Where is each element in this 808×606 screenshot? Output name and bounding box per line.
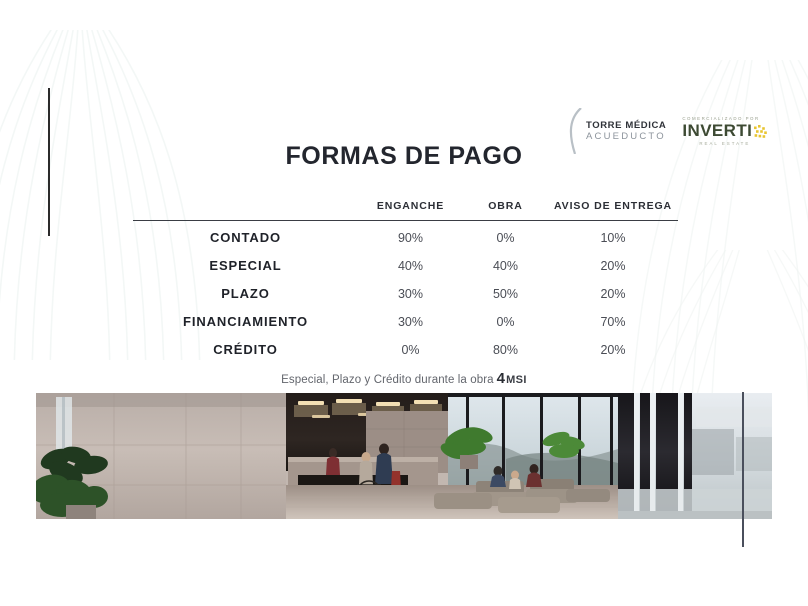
caption-months-number: 4: [494, 370, 506, 387]
row-label-plazo: PLAZO: [133, 280, 358, 308]
cell-contado-aviso: 10%: [548, 221, 678, 252]
cell-contado-enganche: 90%: [358, 221, 463, 252]
column-header-obra: OBRA: [463, 200, 548, 221]
inverti-logo: COMERCIALIZADO POR INVERTI: [682, 114, 767, 147]
inverti-brand-text: INVERTI: [682, 122, 752, 140]
table-row: CRÉDITO 0% 80% 20%: [133, 336, 678, 364]
right-accent-rule: [742, 392, 744, 547]
curve-swoosh-icon: [566, 108, 586, 154]
table-header: ENGANCHE OBRA AVISO DE ENTREGA: [133, 200, 678, 221]
cell-contado-obra: 0%: [463, 221, 548, 252]
payment-table-container: ENGANCHE OBRA AVISO DE ENTREGA CONTADO 9…: [133, 200, 678, 364]
promo-caption: Especial, Plazo y Crédito durante la obr…: [0, 370, 808, 387]
table-row: ESPECIAL 40% 40% 20%: [133, 252, 678, 280]
column-header-blank: [133, 200, 358, 221]
torre-medica-logo: TORRE MÉDICA ACUEDUCTO: [566, 114, 666, 143]
cell-financiamiento-aviso: 70%: [548, 308, 678, 336]
column-header-aviso-de-entrega: AVISO DE ENTREGA: [548, 200, 678, 221]
table-body: CONTADO 90% 0% 10% ESPECIAL 40% 40% 20% …: [133, 221, 678, 364]
torre-logo-line1: TORRE MÉDICA: [586, 120, 666, 131]
table-row: FINANCIAMIENTO 30% 0% 70%: [133, 308, 678, 336]
cell-financiamiento-enganche: 30%: [358, 308, 463, 336]
cell-especial-aviso: 20%: [548, 252, 678, 280]
slide-canvas: TORRE MÉDICA ACUEDUCTO COMERCIALIZADO PO…: [0, 0, 808, 606]
cell-plazo-aviso: 20%: [548, 280, 678, 308]
cell-plazo-obra: 50%: [463, 280, 548, 308]
cell-especial-enganche: 40%: [358, 252, 463, 280]
cell-financiamiento-obra: 0%: [463, 308, 548, 336]
row-label-contado: CONTADO: [133, 221, 358, 252]
cell-plazo-enganche: 30%: [358, 280, 463, 308]
row-label-financiamiento: FINANCIAMIENTO: [133, 308, 358, 336]
caption-msi-label: MSI: [506, 374, 527, 386]
logo-group: TORRE MÉDICA ACUEDUCTO COMERCIALIZADO PO…: [566, 114, 767, 147]
inverti-brand-row: INVERTI: [682, 122, 767, 140]
cell-especial-obra: 40%: [463, 252, 548, 280]
cell-credito-obra: 80%: [463, 336, 548, 364]
column-header-enganche: ENGANCHE: [358, 200, 463, 221]
torre-logo-line2: ACUEDUCTO: [586, 131, 666, 143]
row-label-credito: CRÉDITO: [133, 336, 358, 364]
lobby-render-image: [36, 393, 772, 519]
cell-credito-aviso: 20%: [548, 336, 678, 364]
table-row: CONTADO 90% 0% 10%: [133, 221, 678, 252]
inverti-subtitle: REAL ESTATE: [682, 140, 767, 147]
row-label-especial: ESPECIAL: [133, 252, 358, 280]
inverti-dots-mark-icon: [754, 125, 767, 138]
caption-text-before: Especial, Plazo y Crédito durante la obr…: [281, 374, 494, 386]
payment-methods-table: ENGANCHE OBRA AVISO DE ENTREGA CONTADO 9…: [133, 200, 678, 364]
cell-credito-enganche: 0%: [358, 336, 463, 364]
table-header-row: ENGANCHE OBRA AVISO DE ENTREGA: [133, 200, 678, 221]
table-row: PLAZO 30% 50% 20%: [133, 280, 678, 308]
